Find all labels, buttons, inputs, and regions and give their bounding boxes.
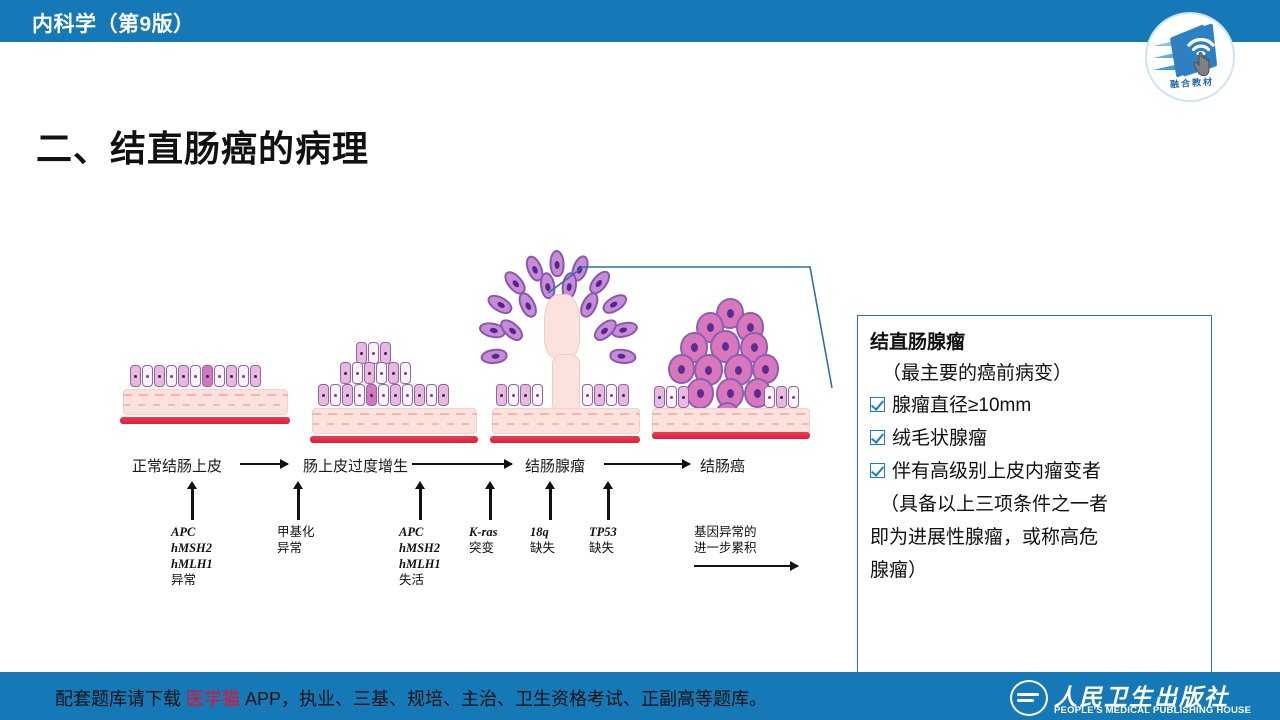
villous-crown	[498, 250, 633, 370]
up-arrow-5	[549, 488, 552, 520]
callout-subtitle: （最主要的癌前病变）	[870, 358, 1201, 389]
gene-name: TP53	[589, 525, 617, 539]
gene-status: 异常	[277, 541, 302, 555]
gene-name: 18q	[530, 525, 549, 539]
gene-name: hMSH2	[171, 541, 212, 555]
stage-normal-epithelium	[118, 365, 288, 440]
slide-canvas: 内科学（第9版） 融合教材 二、结直肠癌的病理	[0, 0, 1280, 720]
stroma-layer	[652, 408, 810, 434]
footer-app-name: 医学猫	[186, 689, 240, 709]
callout-note-line-3: 腺瘤）	[870, 554, 1201, 587]
stage-hyperplasia	[308, 342, 478, 442]
callout-item: 腺瘤直径≥10mm	[870, 389, 1201, 422]
gene-status: 缺失	[530, 541, 555, 555]
epithelial-cell-row	[318, 384, 449, 406]
publisher-logo: 人民卫生出版社 PEOPLE'S MEDICAL PUBLISHING HOUS…	[1010, 678, 1260, 718]
page-title: 二、结直肠癌的病理	[36, 120, 369, 172]
callout-note: （具备以上三项条件之一者 即为进展性腺瘤，或称高危 腺瘤）	[870, 488, 1201, 587]
checkbox-checked-icon	[870, 463, 885, 478]
gene-name: APC	[399, 525, 423, 539]
hyperplastic-cell-row-mid	[340, 362, 411, 384]
stage-adenoma	[490, 250, 640, 445]
publisher-emblem-icon	[1010, 680, 1048, 716]
gene-name: APC	[171, 525, 195, 539]
stroma-layer	[492, 408, 640, 434]
epithelial-cell-row-right	[582, 384, 629, 406]
gene-name: hMLH1	[399, 557, 441, 571]
polyp-stalk	[552, 354, 580, 414]
flow-arrow-1	[240, 463, 288, 465]
muscularis-layer	[490, 436, 640, 443]
checkbox-checked-icon	[870, 397, 885, 412]
flow-arrow-3	[604, 463, 690, 465]
stroma-layer	[312, 408, 477, 434]
gene-group-6: TP53 缺失	[589, 524, 617, 556]
callout-item: 伴有高级别上皮内瘤变者	[870, 455, 1201, 488]
gene-group-2: 甲基化 异常	[277, 524, 315, 556]
callout-item-label: 绒毛状腺瘤	[892, 422, 987, 455]
accumulation-line-2: 进一步累积	[694, 541, 757, 555]
callout-title: 结直肠腺瘤	[870, 328, 1201, 358]
stroma-layer	[123, 389, 288, 415]
flow-arrow-2	[412, 463, 512, 465]
footer-text-after: APP，执业、三基、规培、主治、卫生资格考试、正副高等题库。	[240, 689, 767, 709]
epithelial-cell-row-left	[654, 386, 689, 408]
gene-name: hMSH2	[399, 541, 440, 555]
gene-group-5: 18q 缺失	[530, 524, 555, 556]
callout-item-label: 伴有高级别上皮内瘤变者	[892, 455, 1101, 488]
callout-item-label: 腺瘤直径≥10mm	[892, 389, 1031, 422]
stage-label-carcinoma: 结肠癌	[700, 455, 745, 476]
header-title: 内科学（第9版）	[32, 8, 195, 38]
accumulation-line-1: 基因异常的	[694, 525, 757, 539]
stage-label-normal: 正常结肠上皮	[132, 455, 222, 476]
accumulation-annotation: 基因异常的 进一步累积	[694, 524, 757, 556]
up-arrow-4	[489, 488, 492, 520]
gene-status: 失活	[399, 573, 424, 587]
muscularis-layer	[120, 417, 290, 424]
callout-item: 绒毛状腺瘤	[870, 422, 1201, 455]
footer-promo-text: 配套题库请下载 医学猫 APP，执业、三基、规培、主治、卫生资格考试、正副高等题…	[55, 685, 767, 711]
checkbox-checked-icon	[870, 430, 885, 445]
gene-name: K-ras	[469, 525, 497, 539]
hyperplastic-cell-row-top	[356, 342, 391, 364]
carcinogenesis-diagram: 正常结肠上皮 肠上皮过度增生 结肠腺瘤 结肠癌 APC hMSH2 hMLH1 …	[100, 240, 840, 610]
muscularis-layer	[652, 432, 810, 439]
gene-group-4: K-ras 突变	[469, 524, 497, 556]
callout-note-line-1: （具备以上三项条件之一者	[870, 488, 1201, 521]
epithelial-cell-row-left	[496, 384, 543, 406]
accumulation-arrow	[694, 565, 798, 567]
adenoma-callout-box: 结直肠腺瘤 （最主要的癌前病变） 腺瘤直径≥10mm 绒毛状腺瘤 伴有高级别上皮…	[857, 315, 1212, 673]
gene-mechanism: 甲基化	[277, 525, 315, 539]
epithelial-cell-row	[130, 365, 261, 387]
stage-label-hyperplasia: 肠上皮过度增生	[303, 455, 408, 476]
gene-status: 缺失	[589, 541, 614, 555]
polyp-core	[544, 294, 580, 358]
gene-name: hMLH1	[171, 557, 213, 571]
callout-note-line-2: 即为进展性腺瘤，或称高危	[870, 521, 1201, 554]
epithelial-cell-row-right	[764, 386, 799, 408]
fusion-textbook-logo: 融合教材	[1145, 12, 1235, 102]
muscularis-layer	[310, 436, 478, 443]
up-arrow-1	[191, 488, 194, 520]
gene-status: 异常	[171, 573, 196, 587]
stage-carcinoma	[652, 298, 812, 448]
gene-status: 突变	[469, 541, 494, 555]
up-arrow-6	[607, 488, 610, 520]
publisher-name-en: PEOPLE'S MEDICAL PUBLISHING HOUSE	[1054, 705, 1251, 716]
gene-group-1: APC hMSH2 hMLH1 异常	[171, 524, 213, 588]
gene-group-3: APC hMSH2 hMLH1 失活	[399, 524, 441, 588]
stage-label-adenoma: 结肠腺瘤	[525, 455, 585, 476]
up-arrow-3	[419, 488, 422, 520]
up-arrow-2	[297, 488, 300, 520]
footer-text-before: 配套题库请下载	[55, 689, 186, 709]
